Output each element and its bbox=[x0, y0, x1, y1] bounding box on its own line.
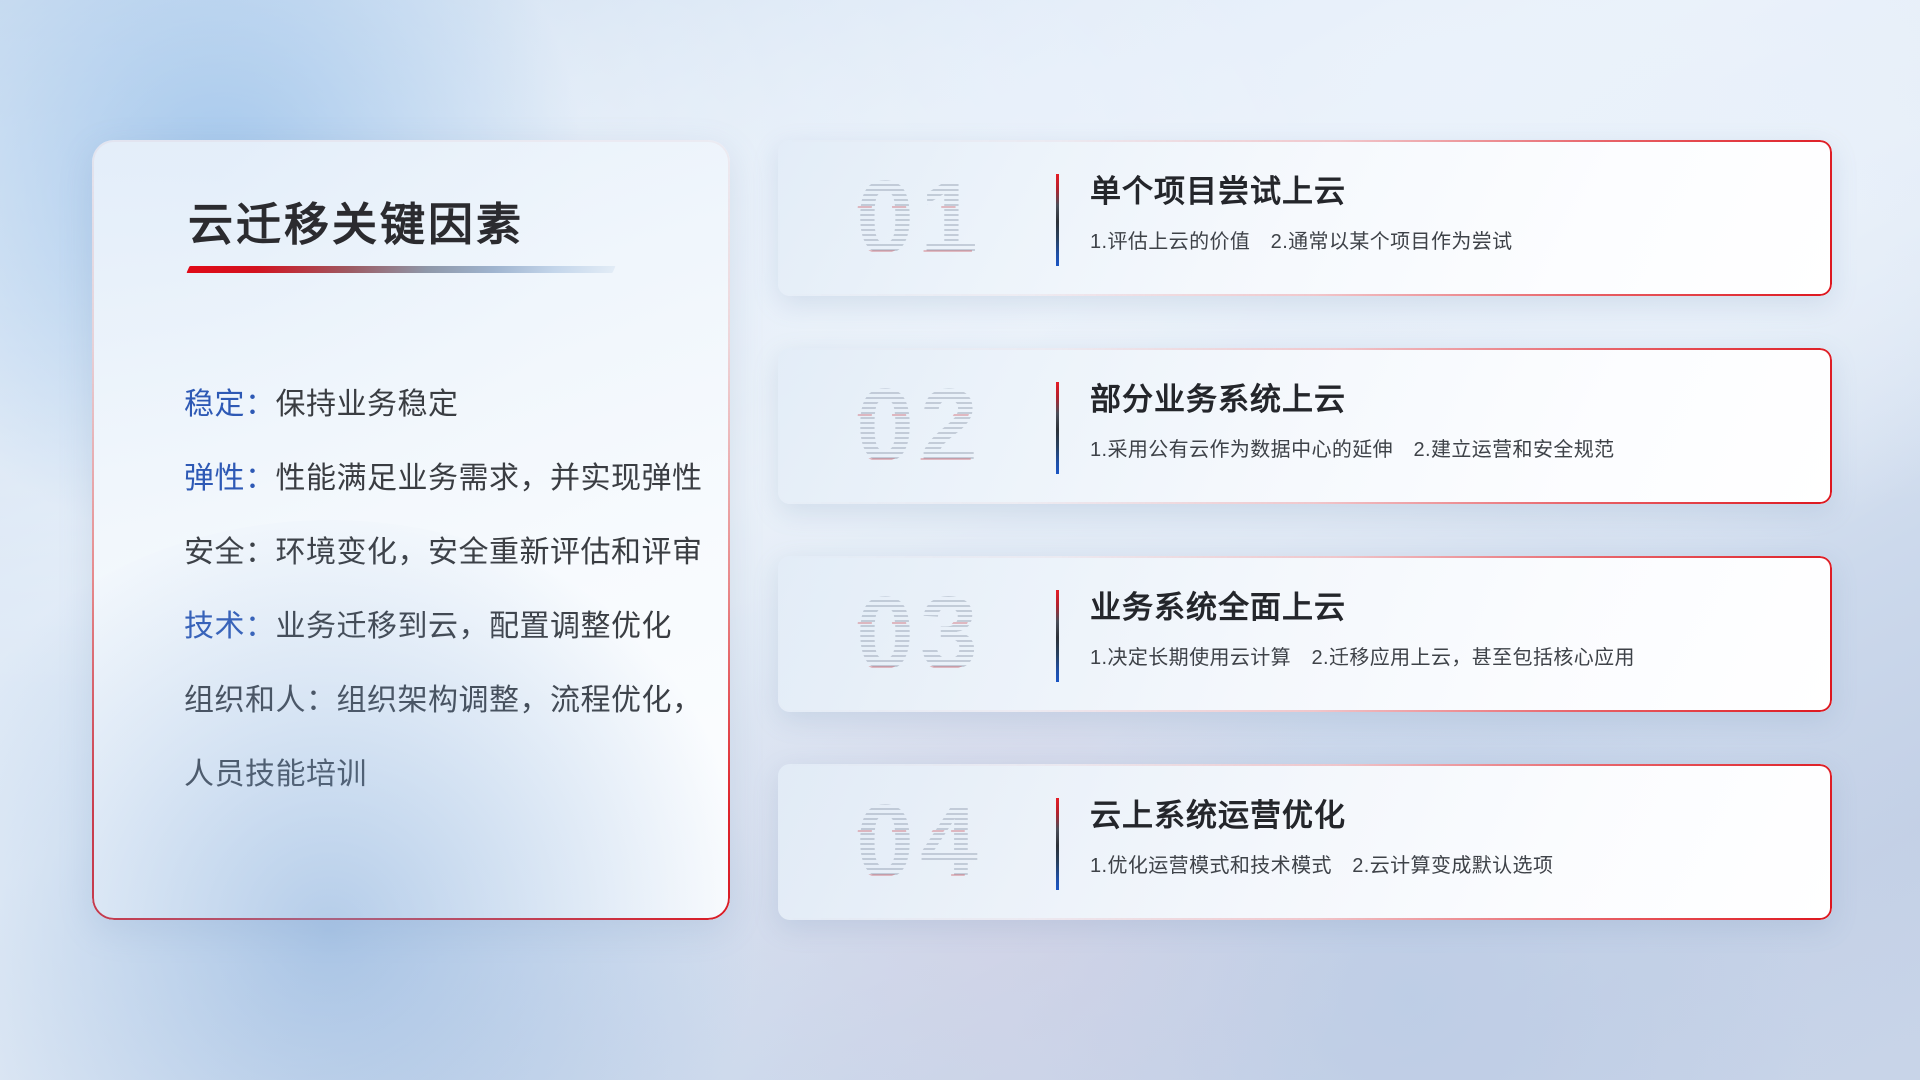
card-divider-bar bbox=[1056, 382, 1059, 474]
card-title: 单个项目尝试上云 bbox=[1090, 166, 1802, 211]
factor-text: 人员技能培训 bbox=[184, 758, 367, 791]
page-title: 云迁移关键因素 bbox=[188, 188, 524, 253]
stage-card[interactable]: 02 02 部分业务系统上云 1.采用公有云作为数据中心的延伸 2.建立运营和安… bbox=[778, 348, 1832, 504]
factor-item: 组织和人：组织架构调整，流程优化， bbox=[184, 664, 690, 738]
stage-number-glitch-overlay: 04 bbox=[819, 778, 1015, 906]
factor-item: 人员技能培训 bbox=[184, 738, 690, 812]
factor-label: 安全： bbox=[184, 536, 276, 569]
card-subtitle: 1.优化运营模式和技术模式 2.云计算变成默认选项 bbox=[1090, 849, 1802, 878]
card-body: 业务系统全面上云 1.决定长期使用云计算 2.迁移应用上云，甚至包括核心应用 bbox=[1090, 582, 1802, 670]
factor-label: 技术： bbox=[184, 610, 276, 643]
factor-item: 安全：环境变化，安全重新评估和评审 bbox=[184, 516, 690, 590]
factor-label: 稳定： bbox=[184, 388, 276, 421]
card-title: 云上系统运营优化 bbox=[1090, 790, 1802, 835]
stage-number-glitch-overlay: 03 bbox=[819, 570, 1015, 698]
card-title: 业务系统全面上云 bbox=[1090, 582, 1802, 627]
factor-text: 环境变化，安全重新评估和评审 bbox=[276, 536, 703, 569]
card-body: 云上系统运营优化 1.优化运营模式和技术模式 2.云计算变成默认选项 bbox=[1090, 790, 1802, 878]
stage-card[interactable]: 04 04 云上系统运营优化 1.优化运营模式和技术模式 2.云计算变成默认选项 bbox=[778, 764, 1832, 920]
factor-label: 弹性： bbox=[184, 462, 276, 495]
factor-item: 稳定：保持业务稳定 bbox=[184, 368, 690, 442]
slide-canvas: 云迁移关键因素 稳定：保持业务稳定 弹性：性能满足业务需求，并实现弹性 安全：环… bbox=[0, 0, 1920, 1080]
factor-text: 组织架构调整，流程优化， bbox=[337, 684, 703, 717]
stage-card-list: 01 01 单个项目尝试上云 1.评估上云的价值 2.通常以某个项目作为尝试 0… bbox=[778, 140, 1832, 972]
factor-label: 组织和人： bbox=[184, 684, 337, 717]
card-body: 部分业务系统上云 1.采用公有云作为数据中心的延伸 2.建立运营和安全规范 bbox=[1090, 374, 1802, 462]
factor-item: 技术：业务迁移到云，配置调整优化 bbox=[184, 590, 690, 664]
factor-item: 弹性：性能满足业务需求，并实现弹性 bbox=[184, 442, 690, 516]
stage-card[interactable]: 03 03 业务系统全面上云 1.决定长期使用云计算 2.迁移应用上云，甚至包括… bbox=[778, 556, 1832, 712]
title-underline-rule bbox=[186, 266, 615, 273]
factor-list: 稳定：保持业务稳定 弹性：性能满足业务需求，并实现弹性 安全：环境变化，安全重新… bbox=[184, 368, 690, 812]
factor-text: 性能满足业务需求，并实现弹性 bbox=[276, 462, 703, 495]
card-subtitle: 1.评估上云的价值 2.通常以某个项目作为尝试 bbox=[1090, 225, 1802, 254]
factor-text: 业务迁移到云，配置调整优化 bbox=[276, 610, 673, 643]
stage-card[interactable]: 01 01 单个项目尝试上云 1.评估上云的价值 2.通常以某个项目作为尝试 bbox=[778, 140, 1832, 296]
card-divider-bar bbox=[1056, 798, 1059, 890]
factor-text: 保持业务稳定 bbox=[276, 388, 459, 421]
stage-number-glitch-overlay: 01 bbox=[819, 154, 1015, 282]
card-subtitle: 1.采用公有云作为数据中心的延伸 2.建立运营和安全规范 bbox=[1090, 433, 1802, 462]
card-divider-bar bbox=[1056, 590, 1059, 682]
card-divider-bar bbox=[1056, 174, 1059, 266]
stage-number-glitch-overlay: 02 bbox=[819, 362, 1015, 490]
card-body: 单个项目尝试上云 1.评估上云的价值 2.通常以某个项目作为尝试 bbox=[1090, 166, 1802, 254]
card-title: 部分业务系统上云 bbox=[1090, 374, 1802, 419]
card-subtitle: 1.决定长期使用云计算 2.迁移应用上云，甚至包括核心应用 bbox=[1090, 641, 1802, 670]
key-factors-panel: 云迁移关键因素 稳定：保持业务稳定 弹性：性能满足业务需求，并实现弹性 安全：环… bbox=[92, 140, 730, 920]
